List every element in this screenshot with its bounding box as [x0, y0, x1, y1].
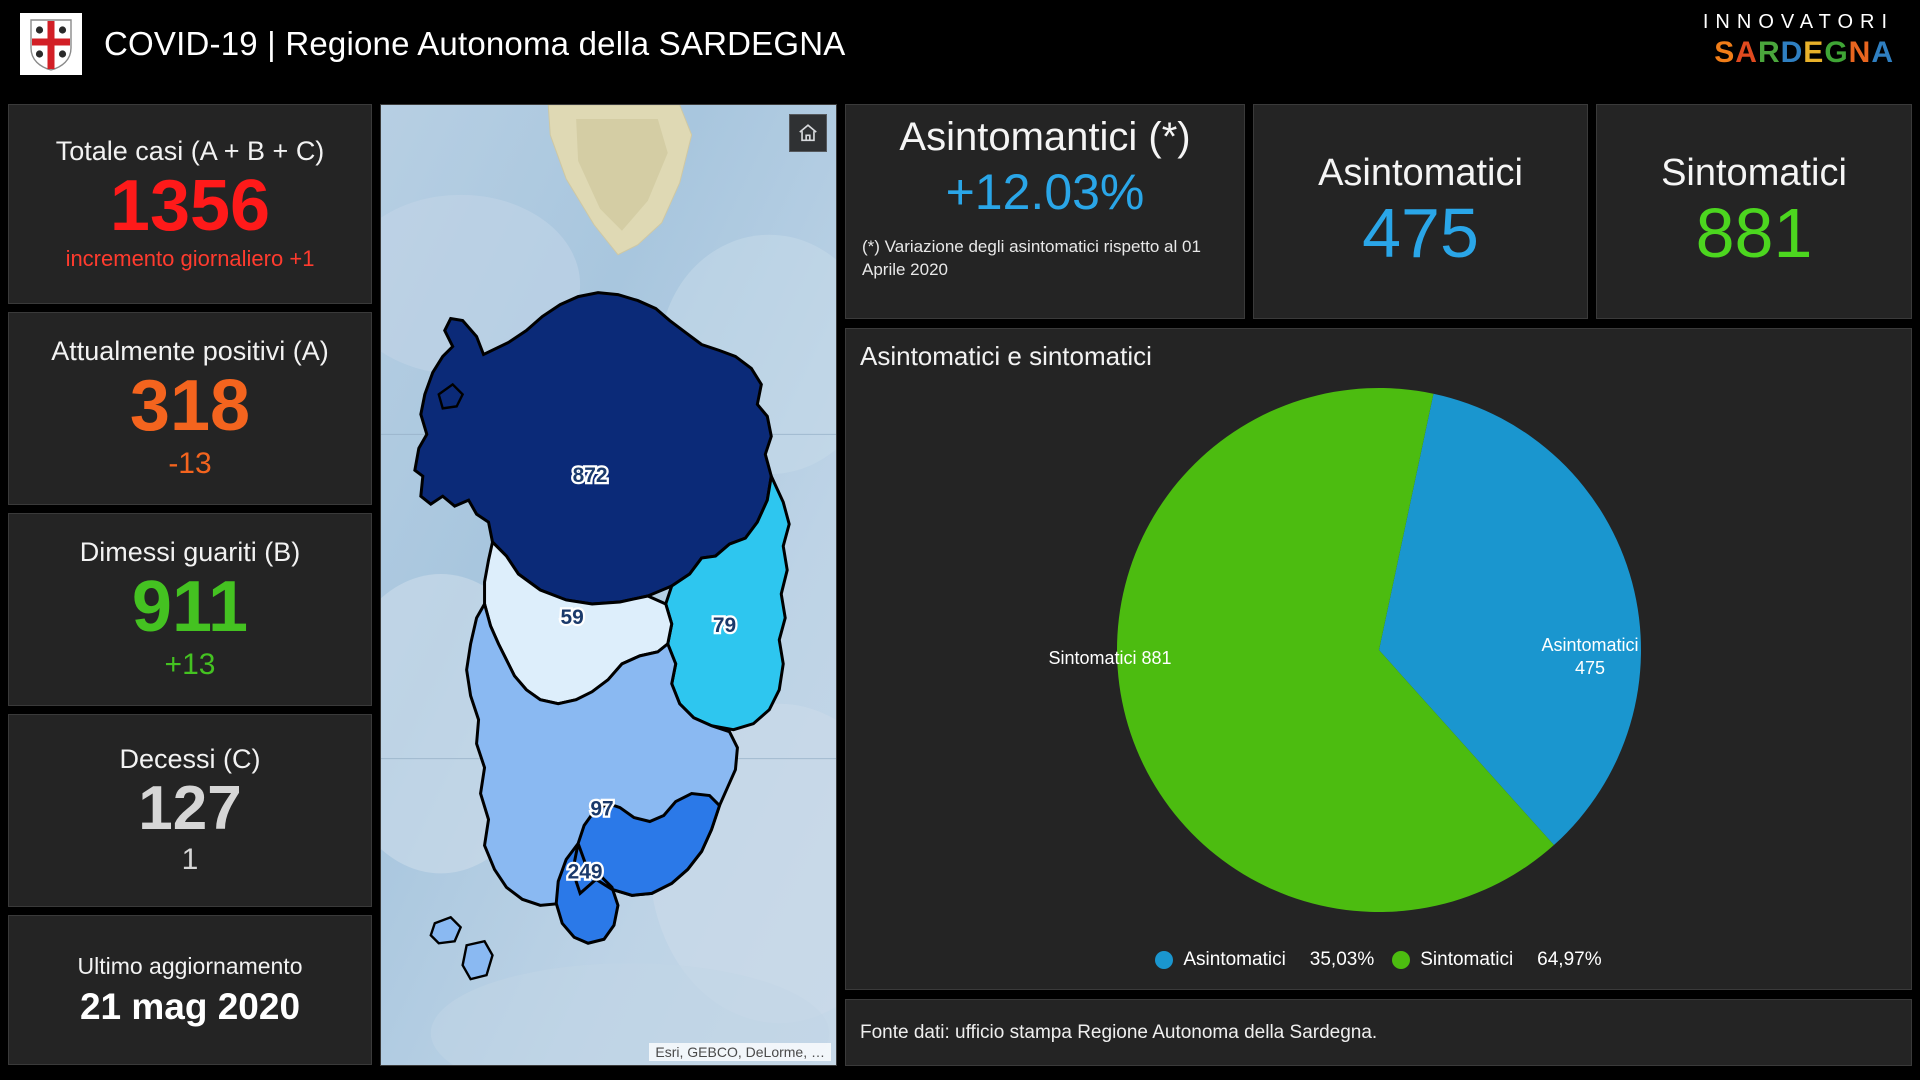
- stat-card-attualmente-positivi[interactable]: Attualmente positivi (A) 318 -13: [8, 312, 372, 505]
- pie-chart-title: Asintomatici e sintomatici: [846, 329, 1911, 372]
- kpi-card-sintomatici[interactable]: Sintomatici 881: [1596, 104, 1912, 319]
- footer-bar: Fonte dati: ufficio stampa Regione Auton…: [845, 999, 1912, 1066]
- innovatori-sardegna-logo: INNOVATORI SARDEGNA: [1703, 12, 1894, 68]
- legend-label-asintomatici: Asintomatici: [1183, 949, 1285, 971]
- stat-title: Decessi (C): [119, 745, 260, 775]
- kpi-value: 881: [1696, 197, 1813, 271]
- sardinia-coat-of-arms-icon: [20, 13, 82, 75]
- kpi-card-variazione-asintomatici[interactable]: Asintomantici (*) +12.03% (*) Variazione…: [845, 104, 1245, 319]
- update-date: 21 mag 2020: [80, 986, 300, 1028]
- stat-value: 1356: [110, 169, 270, 245]
- legend-swatch-asintomatici: [1155, 951, 1173, 969]
- logo-line-2: SARDEGNA: [1703, 38, 1894, 68]
- stat-delta: incremento giornaliero +1: [66, 247, 315, 271]
- legend-swatch-sintomatici: [1392, 951, 1410, 969]
- province-label-nuoro: 79: [713, 614, 736, 637]
- stat-card-totale-casi[interactable]: Totale casi (A + B + C) 1356 incremento …: [8, 104, 372, 304]
- pie-chart-svg[interactable]: [1109, 380, 1649, 920]
- legend-percent-asintomatici: 35,03%: [1310, 949, 1374, 971]
- page-title: COVID-19 | Regione Autonoma della SARDEG…: [104, 25, 846, 63]
- dashboard-root: COVID-19 | Regione Autonoma della SARDEG…: [0, 0, 1920, 1080]
- data-source-text: Fonte dati: ufficio stampa Regione Auton…: [860, 1022, 1377, 1044]
- legend-item-sintomatici[interactable]: Sintomatici 64,97%: [1392, 949, 1601, 971]
- kpi-footnote: (*) Variazione degli asintomatici rispet…: [862, 236, 1228, 282]
- kpi-value: +12.03%: [946, 165, 1145, 220]
- stat-delta: +13: [165, 648, 216, 681]
- province-label-oristano: 59: [561, 606, 584, 629]
- legend-percent-sintomatici: 64,97%: [1537, 949, 1601, 971]
- stat-card-dimessi-guariti[interactable]: Dimessi guariti (B) 911 +13: [8, 513, 372, 706]
- stat-delta: 1: [182, 843, 199, 876]
- stats-sidebar: Totale casi (A + B + C) 1356 incremento …: [8, 104, 372, 1066]
- legend-item-asintomatici[interactable]: Asintomatici 35,03%: [1155, 949, 1374, 971]
- stat-value: 911: [132, 570, 248, 646]
- map-attribution: Esri, GEBCO, DeLorme, …: [649, 1043, 831, 1061]
- province-label-sud-sardegna: 97: [590, 797, 613, 820]
- kpi-title: Asintomantici (*): [899, 115, 1190, 159]
- kpi-title: Sintomatici: [1661, 153, 1847, 195]
- legend-label-sintomatici: Sintomatici: [1420, 949, 1513, 971]
- province-label-cagliari: 249: [568, 860, 603, 883]
- pie-chart-area[interactable]: Sintomatici 881 Asintomatici 475: [846, 372, 1911, 932]
- logo-line-1: INNOVATORI: [1703, 12, 1894, 32]
- kpi-value: 475: [1362, 197, 1479, 271]
- pie-chart-panel[interactable]: Asintomatici e sintomatici Sintomatici 8…: [845, 328, 1912, 990]
- stat-title: Totale casi (A + B + C): [56, 137, 325, 167]
- pie-legend: Asintomatici 35,03% Sintomatici 64,97%: [846, 949, 1911, 971]
- province-label-sassari: 872: [573, 464, 608, 487]
- kpi-card-asintomatici[interactable]: Asintomatici 475: [1253, 104, 1588, 319]
- update-label: Ultimo aggiornamento: [77, 953, 302, 980]
- home-icon[interactable]: [789, 114, 827, 152]
- stat-title: Dimessi guariti (B): [80, 538, 301, 568]
- header-bar: COVID-19 | Regione Autonoma della SARDEG…: [0, 0, 1920, 88]
- map-canvas[interactable]: 872 79 59 97 249: [381, 105, 836, 1065]
- kpi-title: Asintomatici: [1318, 153, 1523, 195]
- sardinia-map-panel[interactable]: 872 79 59 97 249 Esri, GEBCO, DeLorme, …: [380, 104, 837, 1066]
- stat-delta: -13: [168, 447, 211, 480]
- stat-value: 127: [138, 776, 241, 841]
- stat-card-decessi[interactable]: Decessi (C) 127 1: [8, 714, 372, 907]
- stat-value: 318: [130, 369, 250, 445]
- stat-card-ultimo-aggiornamento[interactable]: Ultimo aggiornamento 21 mag 2020: [8, 915, 372, 1065]
- stat-title: Attualmente positivi (A): [51, 337, 329, 367]
